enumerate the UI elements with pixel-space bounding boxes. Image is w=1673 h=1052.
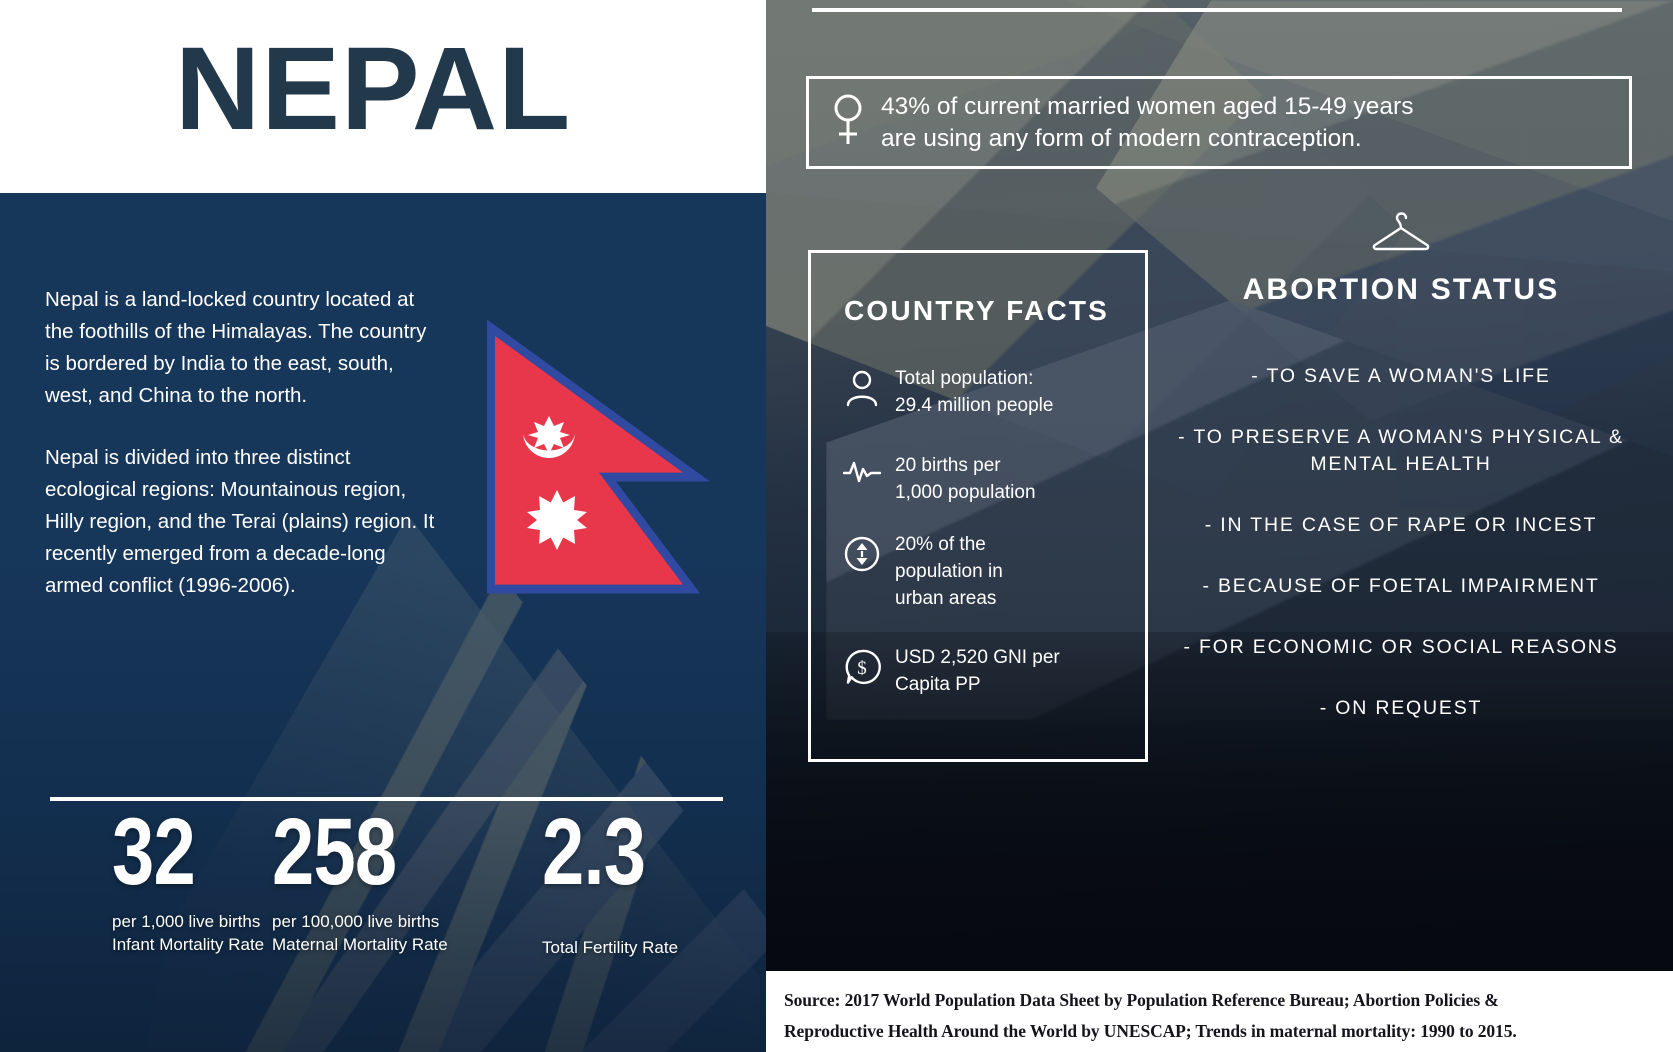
abortion-status-item: - IN THE CASE OF RAPE OR INCEST [1166,512,1636,539]
left-panel: NEPAL Nepal is a land-locked country loc… [0,0,766,1052]
fact-line-3: urban areas [895,585,1003,612]
stat-caption-line-1: Total Fertility Rate [542,936,678,959]
fact-line-1: USD 2,520 GNI per [895,644,1060,671]
svg-text:$: $ [857,658,867,679]
fact-text: USD 2,520 GNI per Capita PP [885,644,1060,698]
contraception-line-2: are using any form of modern contracepti… [881,123,1413,155]
country-facts-title: COUNTRY FACTS [844,295,1109,327]
stat-value: 258 [272,805,413,900]
stat-total-fertility-rate: 2.3 Total Fertility Rate [542,805,678,959]
stat-caption-line-2: Infant Mortality Rate [112,933,264,956]
fact-gni-per-capita: $ USD 2,520 GNI per Capita PP [839,644,1060,698]
contraception-line-1: 43% of current married women aged 15-49 … [881,91,1413,123]
stat-caption: Total Fertility Rate [542,936,678,959]
fact-line-2: 29.4 million people [895,392,1053,419]
abortion-status-item: - TO SAVE A WOMAN'S LIFE [1166,363,1636,390]
key-statistics: 32 per 1,000 live births Infant Mortalit… [50,805,750,1045]
stat-caption: per 1,000 live births Infant Mortality R… [112,910,264,956]
stat-caption: per 100,000 live births Maternal Mortali… [272,910,448,956]
fact-urban-population: 20% of the population in urban areas [839,531,1003,612]
stat-value: 32 [112,805,234,900]
country-facts-box: COUNTRY FACTS Total population: 29.4 mil… [808,250,1148,762]
up-down-arrow-icon [839,531,885,573]
abortion-status-item: - FOR ECONOMIC OR SOCIAL REASONS [1166,634,1636,661]
country-description: Nepal is a land-locked country located a… [45,284,445,632]
dollar-bubble-icon: $ [839,644,885,686]
description-paragraph-1: Nepal is a land-locked country located a… [45,284,445,412]
abortion-status-item: - ON REQUEST [1166,695,1636,722]
fact-text: 20 births per 1,000 population [885,452,1036,506]
description-paragraph-2: Nepal is divided into three distinct eco… [45,442,445,602]
fact-line-1: 20% of the [895,531,1003,558]
heartbeat-icon [839,452,885,486]
source-citation-bar: Source: 2017 World Population Data Sheet… [766,971,1673,1052]
fact-line-1: 20 births per [895,452,1036,479]
stat-maternal-mortality: 258 per 100,000 live births Maternal Mor… [272,805,448,956]
stat-value: 2.3 [542,805,651,900]
abortion-status-item: - TO PRESERVE A WOMAN'S PHYSICAL & MENTA… [1166,424,1636,478]
contraception-text: 43% of current married women aged 15-49 … [881,91,1413,155]
fact-text: 20% of the population in urban areas [885,531,1003,612]
abortion-status-block: ABORTION STATUS - TO SAVE A WOMAN'S LIFE… [1166,212,1636,756]
fact-line-2: Capita PP [895,671,1060,698]
abortion-status-title: ABORTION STATUS [1166,273,1636,307]
venus-female-icon [831,92,865,153]
source-citation-line-1: Source: 2017 World Population Data Sheet… [784,985,1651,1016]
stat-caption-line-1: per 1,000 live births [112,910,264,933]
fact-total-population: Total population: 29.4 million people [839,365,1053,419]
stat-caption-line-2: Maternal Mortality Rate [272,933,448,956]
contraception-callout: 43% of current married women aged 15-49 … [806,76,1632,169]
right-panel: 43% of current married women aged 15-49 … [766,0,1673,1052]
source-citation-line-2: Reproductive Health Around the World by … [784,1016,1651,1047]
fact-line-1: Total population: [895,365,1053,392]
infographic-page: NEPAL Nepal is a land-locked country loc… [0,0,1673,1052]
fact-birth-rate: 20 births per 1,000 population [839,452,1036,506]
fact-text: Total population: 29.4 million people [885,365,1053,419]
abortion-status-item: - BECAUSE OF FOETAL IMPAIRMENT [1166,573,1636,600]
title-band: NEPAL [0,0,766,195]
top-divider-rule [812,8,1622,12]
fact-line-2: population in [895,558,1003,585]
coat-hanger-icon [1166,212,1636,259]
person-icon [839,365,885,407]
fact-line-2: 1,000 population [895,479,1036,506]
stat-infant-mortality: 32 per 1,000 live births Infant Mortalit… [112,805,264,956]
page-title: NEPAL [175,30,571,148]
nepal-flag-icon [487,305,722,595]
stat-caption-line-1: per 100,000 live births [272,910,448,933]
